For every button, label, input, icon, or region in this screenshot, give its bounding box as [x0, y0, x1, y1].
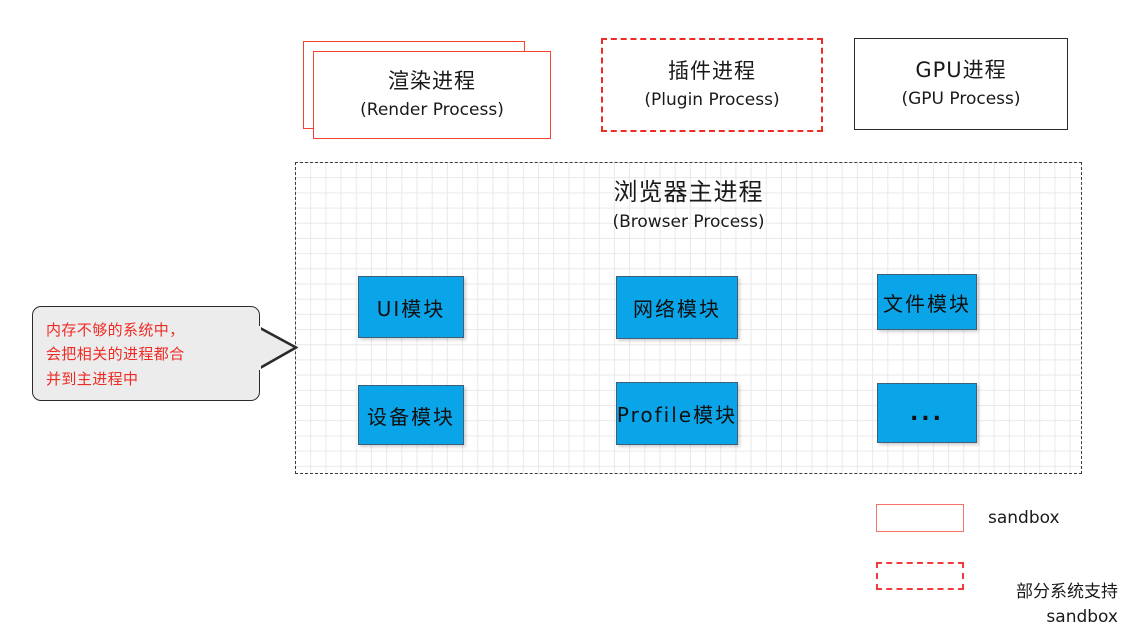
plugin-process-title-cn: 插件进程 — [668, 58, 756, 84]
module-ui: UI模块 — [358, 276, 464, 338]
gpu-process-box: GPU进程 (GPU Process) — [854, 38, 1068, 130]
module-more-ellipsis: ... — [877, 383, 977, 443]
gpu-process-title-cn: GPU进程 — [915, 57, 1006, 83]
render-process-group: 渲染进程 (Render Process) — [303, 41, 551, 139]
legend-item-sandbox: sandbox — [876, 504, 1060, 532]
render-process-box: 渲染进程 (Render Process) — [313, 51, 551, 139]
render-process-title-en: (Render Process) — [360, 99, 504, 122]
browser-process-title-en: (Browser Process) — [296, 211, 1081, 234]
callout-pointer-icon — [258, 326, 298, 370]
legend-label-partial-sandbox: 部分系统支持 sandbox — [976, 580, 1118, 629]
plugin-process-box: 插件进程 (Plugin Process) — [601, 38, 823, 132]
module-device: 设备模块 — [358, 385, 464, 445]
gpu-process-title-en: (GPU Process) — [901, 88, 1020, 111]
legend-swatch-solid-red — [876, 504, 964, 532]
memory-note-callout: 内存不够的系统中， 会把相关的进程都合 并到主进程中 — [32, 306, 260, 401]
browser-process-title-cn: 浏览器主进程 — [296, 177, 1081, 208]
legend-swatch-dashed-red — [876, 562, 964, 590]
render-process-title-cn: 渲染进程 — [388, 68, 476, 94]
browser-process-box: 浏览器主进程 (Browser Process) UI模块 网络模块 文件模块 … — [295, 162, 1082, 474]
legend-item-partial-sandbox: 部分系统支持 sandbox — [876, 562, 1118, 629]
legend-label-sandbox: sandbox — [988, 506, 1060, 531]
legend: sandbox 部分系统支持 sandbox — [876, 500, 1142, 612]
diagram-canvas: 渲染进程 (Render Process) 插件进程 (Plugin Proce… — [0, 0, 1142, 630]
browser-process-title: 浏览器主进程 (Browser Process) — [296, 177, 1081, 234]
module-file: 文件模块 — [877, 274, 977, 330]
plugin-process-title-en: (Plugin Process) — [644, 89, 779, 112]
memory-note-text: 内存不够的系统中， 会把相关的进程都合 并到主进程中 — [46, 318, 259, 391]
module-profile: Profile模块 — [616, 382, 738, 445]
module-network: 网络模块 — [616, 276, 738, 339]
